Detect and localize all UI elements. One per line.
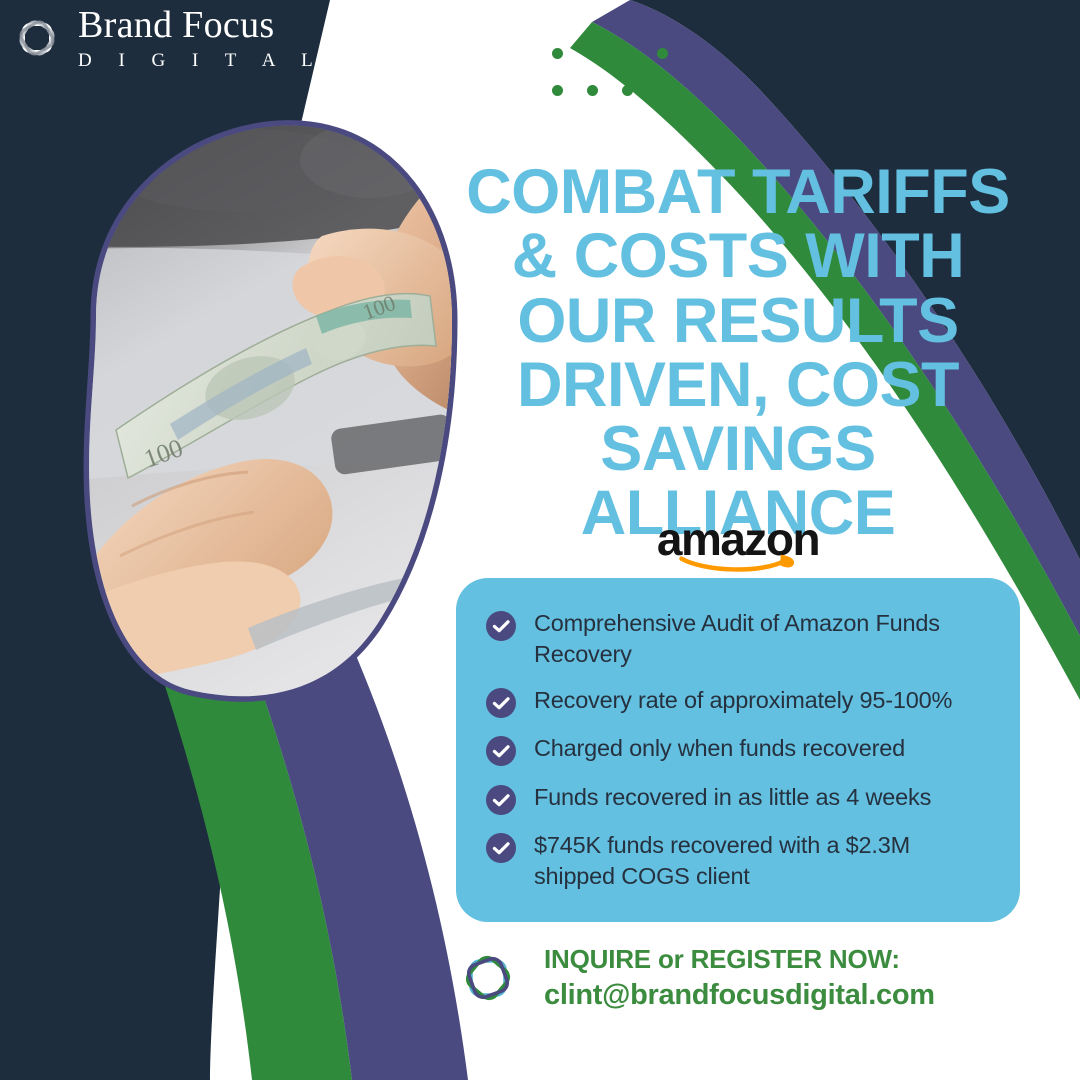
- cta-label: INQUIRE or REGISTER NOW:: [544, 944, 935, 975]
- headline-line-5: SAVINGS: [452, 417, 1024, 481]
- brand-logo-header[interactable]: Brand Focus D I G I T A L: [8, 6, 324, 70]
- benefit-text: Comprehensive Audit of Amazon Funds Reco…: [534, 608, 990, 671]
- dot: [587, 85, 598, 96]
- dot: [657, 85, 668, 96]
- brand-name: Brand Focus: [78, 6, 324, 44]
- headline-line-2: & COSTS WITH: [452, 224, 1024, 288]
- benefit-text: $745K funds recovered with a $2.3M shipp…: [534, 830, 990, 893]
- benefit-text: Charged only when funds recovered: [534, 733, 905, 764]
- contact-email[interactable]: clint@brandfocusdigital.com: [544, 978, 935, 1013]
- benefit-text: Funds recovered in as little as 4 weeks: [534, 782, 931, 813]
- dot: [552, 48, 563, 59]
- footer-cta[interactable]: INQUIRE or REGISTER NOW: clint@brandfocu…: [452, 942, 935, 1014]
- interlocking-squares-logo-color-icon: [452, 942, 524, 1014]
- dot: [657, 48, 668, 59]
- headline-line-1: COMBAT TARIFFS: [452, 160, 1024, 224]
- brand-tagline: D I G I T A L: [78, 51, 324, 70]
- dot-grid-decoration: [552, 48, 668, 96]
- check-circle-icon: [486, 736, 516, 766]
- benefit-item: Recovery rate of approximately 95-100%: [486, 685, 990, 718]
- benefit-item: Charged only when funds recovered: [486, 733, 990, 766]
- amazon-logo: amazon: [452, 516, 1024, 574]
- check-circle-icon: [486, 688, 516, 718]
- poster-canvas: 100 100 Brand Focus D: [0, 0, 1080, 1080]
- benefit-item: Funds recovered in as little as 4 weeks: [486, 782, 990, 815]
- benefit-item: $745K funds recovered with a $2.3M shipp…: [486, 830, 990, 893]
- check-circle-icon: [486, 611, 516, 641]
- amazon-smile-arrow-icon: [663, 553, 813, 574]
- benefit-item: Comprehensive Audit of Amazon Funds Reco…: [486, 608, 990, 671]
- headline-line-4: DRIVEN, COST: [452, 353, 1024, 417]
- dot: [587, 48, 598, 59]
- check-circle-icon: [486, 833, 516, 863]
- dot: [622, 85, 633, 96]
- headline: COMBAT TARIFFS & COSTS WITH OUR RESULTS …: [452, 160, 1024, 546]
- headline-line-3: OUR RESULTS: [452, 289, 1024, 353]
- dot: [622, 48, 633, 59]
- benefit-text: Recovery rate of approximately 95-100%: [534, 685, 952, 716]
- benefits-panel: Comprehensive Audit of Amazon Funds Reco…: [456, 578, 1020, 922]
- interlocking-squares-logo-icon: [8, 9, 66, 67]
- check-circle-icon: [486, 785, 516, 815]
- dot: [552, 85, 563, 96]
